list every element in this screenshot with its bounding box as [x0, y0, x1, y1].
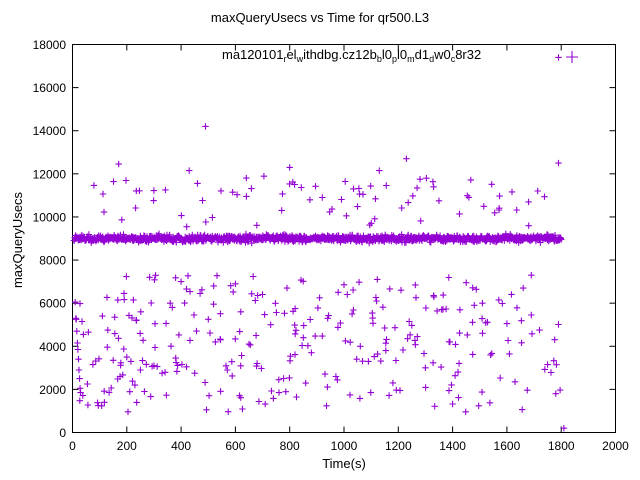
scatter-chart: maxQueryUsecs vs Time for qr500.L3 02000… [0, 0, 640, 480]
legend-label-part: ma120101 [222, 47, 283, 62]
chart-title: maxQueryUsecs vs Time for qr500.L3 [211, 10, 429, 25]
legend-label-part: l0 [397, 47, 407, 62]
x-tick-label: 1000 [331, 439, 358, 453]
y-axis-label: maxQueryUsecs [10, 191, 25, 288]
y-tick-label: 4000 [39, 340, 66, 354]
legend-label-part: m [407, 54, 415, 64]
x-tick-label: 0 [69, 439, 76, 453]
x-axis-label: Time(s) [322, 456, 366, 471]
x-tick-label: 1400 [439, 439, 466, 453]
legend-label-part: el [286, 47, 296, 62]
legend-label-part: 8r32 [455, 47, 481, 62]
x-tick-label: 600 [225, 439, 245, 453]
legend-series-label: ma120101relwithdbg.cz12bbl0pl0md1dw0c8r3… [222, 47, 481, 64]
x-tick-label: 2000 [602, 439, 629, 453]
x-tick-label: 1600 [494, 439, 521, 453]
y-tick-label: 16000 [33, 81, 67, 95]
x-tick-label: 1800 [548, 439, 575, 453]
y-tick-label: 8000 [39, 254, 66, 268]
legend-label-part: w0 [433, 47, 451, 62]
y-tick-label: 0 [59, 426, 66, 440]
legend-label-part: ithdbg.cz12b [303, 47, 377, 62]
y-tick-label: 6000 [39, 297, 66, 311]
y-tick-label: 2000 [39, 383, 66, 397]
y-tick-label: 14000 [33, 124, 67, 138]
x-tick-label: 800 [280, 439, 300, 453]
y-tick-label: 12000 [33, 167, 67, 181]
x-tick-label: 200 [117, 439, 137, 453]
y-tick-label: 18000 [33, 38, 67, 52]
x-tick-label: 400 [171, 439, 191, 453]
x-tick-label: 1200 [385, 439, 412, 453]
y-tick-label: 10000 [33, 210, 67, 224]
legend-label-part: l0 [382, 47, 392, 62]
legend-label-part: d1 [415, 47, 429, 62]
